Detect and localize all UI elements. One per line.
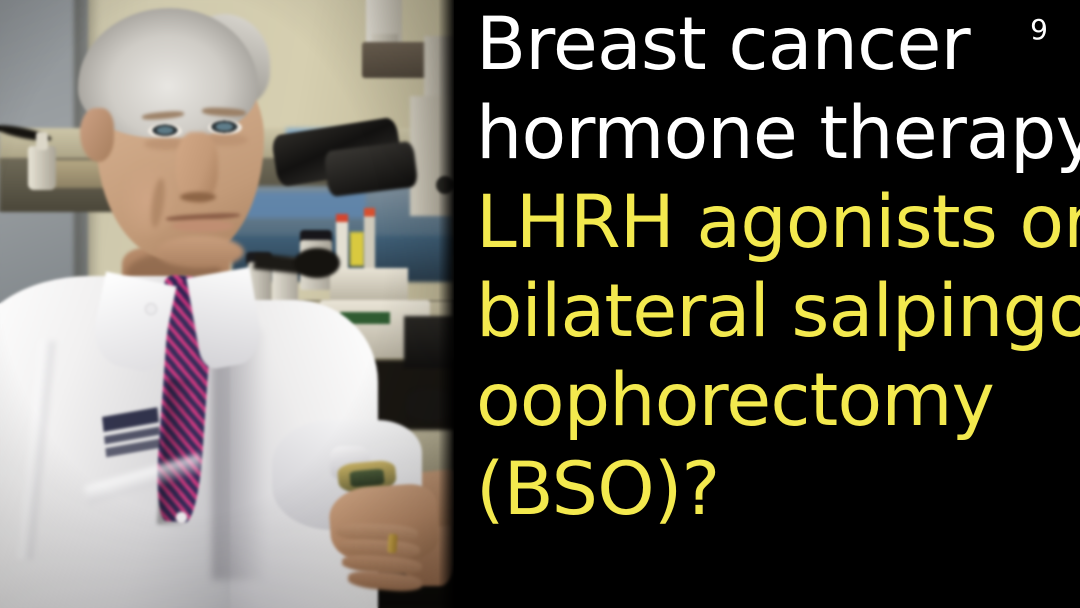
slide-text-line-3: LHRH agonists or bbox=[476, 178, 1080, 268]
microscope-objective bbox=[294, 248, 340, 278]
lab-coat-button-upper bbox=[146, 304, 156, 314]
slide-text-block: Breast cancer hormone therapy. LHRH agon… bbox=[476, 0, 1076, 608]
slide-text-line-2: hormone therapy. bbox=[476, 89, 1080, 179]
chin bbox=[156, 236, 244, 268]
squeeze-bottle bbox=[28, 146, 56, 190]
eye-right bbox=[208, 120, 242, 135]
slide-text-line-4: bilateral salpingo- bbox=[476, 267, 1080, 357]
slide-number: 9 bbox=[1030, 16, 1048, 44]
photo-physician-in-lab bbox=[0, 0, 454, 608]
test-tube-yellow bbox=[350, 232, 364, 266]
test-tube-red-cap-2 bbox=[364, 208, 375, 272]
lower-lip bbox=[172, 220, 234, 232]
presentation-slide: Breast cancer hormone therapy. LHRH agon… bbox=[0, 0, 1080, 608]
slide-text-line-1: Breast cancer bbox=[476, 0, 970, 90]
slide-text-line-5: oophorectomy bbox=[476, 356, 994, 446]
wedding-ring bbox=[387, 534, 397, 554]
cheek-highlight bbox=[118, 160, 178, 240]
eye-left bbox=[148, 124, 182, 138]
nostrils bbox=[180, 192, 216, 202]
slide-text-line-6: (BSO)? bbox=[476, 445, 720, 535]
lab-instrument-knob bbox=[406, 388, 454, 422]
microscope-stand bbox=[410, 96, 454, 216]
lab-instrument-dark bbox=[404, 316, 454, 368]
ear bbox=[80, 108, 114, 162]
squeeze-bottle-cap bbox=[36, 132, 48, 150]
test-tube-rack bbox=[330, 268, 408, 302]
microscope-focus-knob bbox=[436, 176, 454, 194]
lab-coat-button-lower bbox=[176, 512, 187, 523]
bench-blue-accent bbox=[246, 192, 366, 218]
wristwatch-face bbox=[349, 469, 384, 488]
